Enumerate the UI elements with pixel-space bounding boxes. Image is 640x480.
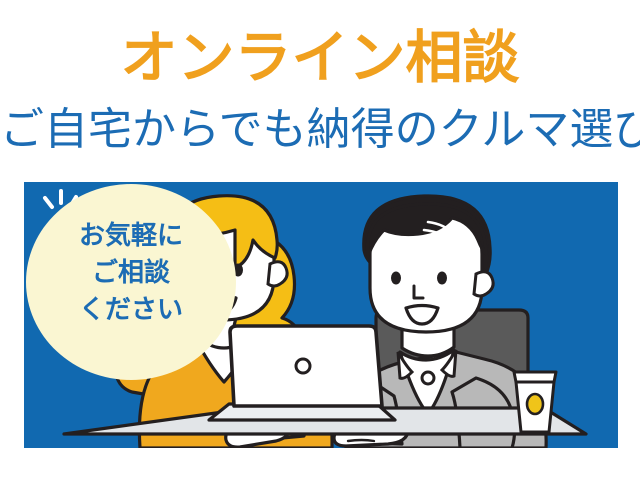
badge-line-1: お気軽に: [26, 218, 236, 255]
badge-line-2: ご相談: [26, 255, 236, 292]
page-subtitle: ご自宅からでも納得のクルマ選びを: [0, 104, 640, 156]
coffee-cup-icon: [514, 372, 556, 432]
badge-text: お気軽に ご相談 ください: [26, 218, 236, 329]
status-badge: お気軽に ご相談 ください: [26, 184, 236, 380]
illustration-panel: お気軽に ご相談 ください: [24, 182, 618, 448]
badge-line-3: ください: [26, 292, 236, 329]
online-consultation-banner: オンライン相談 ご自宅からでも納得のクルマ選びを: [0, 0, 640, 480]
laptop-icon: [209, 326, 395, 420]
page-title: オンライン相談: [0, 26, 640, 90]
